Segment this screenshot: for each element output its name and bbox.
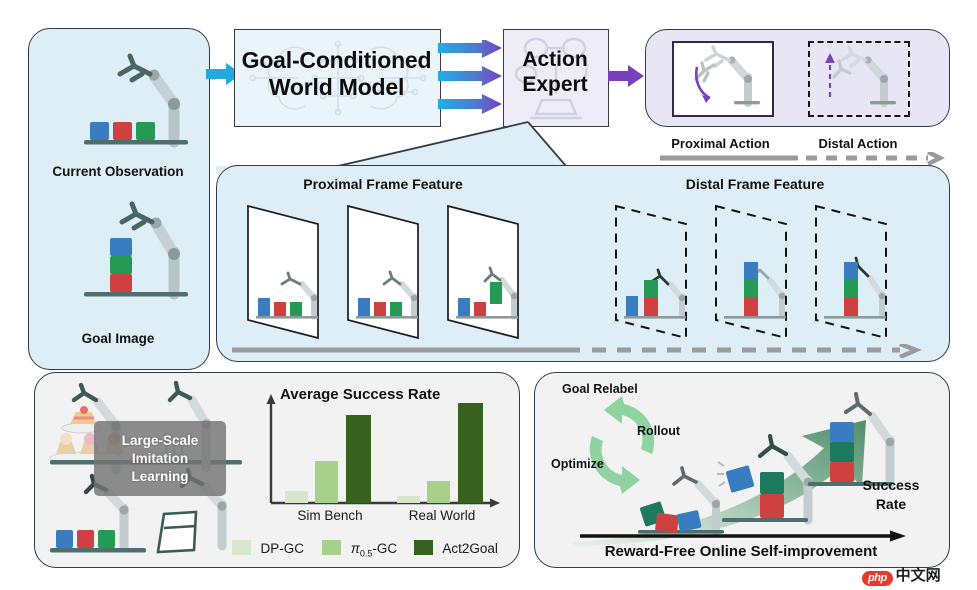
success-rate-label-line1: Success: [846, 477, 936, 493]
action-expert-title-line1: Action: [503, 48, 607, 72]
watermark-text: 中文网: [896, 567, 941, 584]
chart-category-sim-bench: Sim Bench: [280, 508, 380, 523]
bar-sim-dpgc: [285, 491, 308, 503]
legend-pi-symbol: π: [351, 541, 360, 556]
goal-image-illustration: [46, 190, 196, 310]
feature-timeline-arrow: [232, 344, 932, 358]
legend-label-act2goal: Act2Goal: [442, 541, 498, 556]
action-expert-title-line2: Expert: [503, 73, 607, 97]
self-improvement-caption: Reward-Free Online Self-improvement: [534, 543, 948, 560]
bar-sim-act2goal: [346, 415, 371, 503]
success-rate-chart: Average Success Rate Sim Bench Real Worl…: [258, 386, 506, 516]
chart-category-real-world: Real World: [392, 508, 492, 523]
bar-sim-pi05gc: [315, 461, 338, 503]
chart-legend: DP-GC π0.5-GC Act2Goal: [232, 540, 518, 562]
world-model-title-line2: World Model: [234, 75, 439, 101]
legend-label-pi05gc: π0.5-GC: [351, 541, 401, 556]
watermark-badge: php: [862, 571, 893, 586]
legend-swatch-pi05gc: [322, 540, 341, 555]
distal-frame-feature-title: Distal Frame Feature: [620, 176, 890, 192]
current-observation-label: Current Observation: [28, 164, 208, 179]
world-model-to-action-expert-arrows: [438, 40, 504, 118]
distal-action-frame: [808, 41, 910, 117]
imitation-learning-overlay-line2: Imitation: [94, 450, 226, 468]
proximal-frame-stack: [240, 198, 570, 343]
distal-action-label: Distal Action: [793, 136, 923, 151]
proximal-action-label: Proximal Action: [653, 136, 788, 151]
watermark: php中文网: [862, 564, 941, 586]
chart-plot-area: [271, 402, 492, 503]
action-timeline-arrow: [660, 152, 950, 166]
bar-real-dpgc: [397, 496, 420, 503]
distal-action-illustration: [810, 43, 904, 111]
legend-pi-subscript: 0.5: [360, 549, 373, 559]
proximal-action-illustration: [674, 43, 768, 111]
imitation-learning-overlay-line3: Learning: [94, 468, 226, 486]
legend-label-dpgc: DP-GC: [260, 541, 304, 556]
distal-frame-stack: [608, 198, 938, 343]
proximal-action-frame: [672, 41, 774, 117]
legend-pi-suffix: -GC: [372, 541, 397, 556]
bar-real-pi05gc: [427, 481, 450, 503]
legend-swatch-dpgc: [232, 540, 251, 555]
proximal-frame-feature-title: Proximal Frame Feature: [248, 176, 518, 192]
success-rate-label-line2: Rate: [846, 496, 936, 512]
legend-swatch-act2goal: [414, 540, 433, 555]
imitation-learning-overlay-line1: Large-Scale: [94, 432, 226, 450]
self-improvement-bottom-arrow: [580, 530, 910, 542]
current-observation-illustration: [46, 44, 196, 154]
action-expert-to-actions-arrow: [608, 62, 646, 92]
world-model-title-line1: Goal-Conditioned: [234, 48, 439, 74]
goal-image-label: Goal Image: [28, 331, 208, 346]
cycle-label-goal-relabel: Goal Relabel: [562, 382, 638, 396]
bar-real-act2goal: [458, 403, 483, 503]
